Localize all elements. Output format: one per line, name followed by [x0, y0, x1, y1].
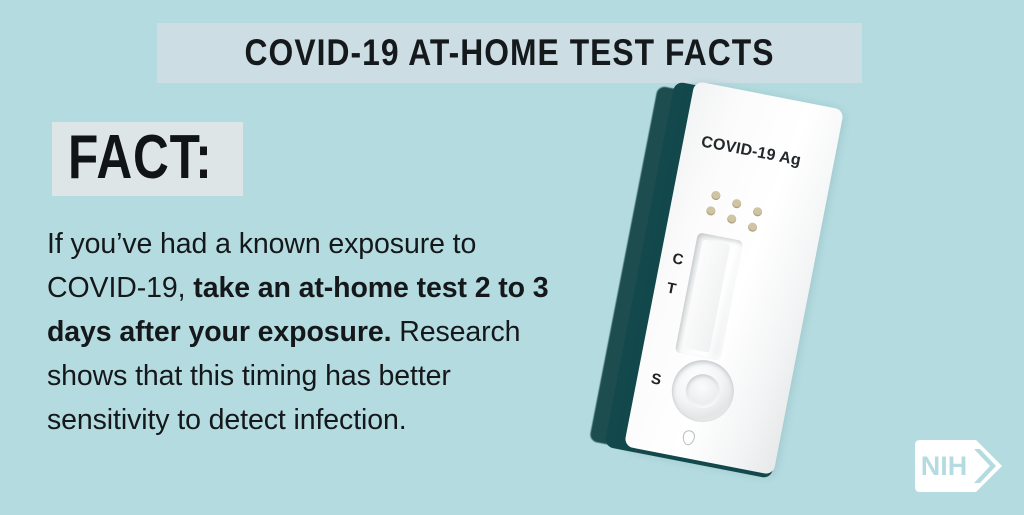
fact-label: FACT: — [52, 118, 205, 196]
vent-dot — [711, 190, 722, 201]
body-copy: If you’ve had a known exposure to COVID-… — [47, 222, 552, 442]
body-copy-lead: If you’ve had a known exposure to — [47, 228, 476, 260]
cassette-product-label: COVID-19 Ag — [700, 133, 803, 170]
vent-dot — [726, 214, 737, 225]
nih-logo: NIH — [910, 437, 1006, 495]
test-line-label: T — [665, 280, 677, 298]
covid-test-cassette: COVID-19 Ag C T S — [600, 70, 930, 500]
control-line-label: C — [671, 250, 685, 269]
nih-logo-plate — [910, 437, 1006, 495]
vent-dot — [731, 198, 742, 209]
vent-dot — [752, 207, 763, 218]
poster-canvas: COVID-19 AT-HOME TEST FACTS FACT: If you… — [0, 0, 1024, 515]
body-copy-lead2: COVID-19, — [47, 272, 193, 304]
cassette-vent-dots — [704, 190, 773, 236]
vent-dot — [747, 222, 758, 233]
droplet-icon — [681, 429, 696, 446]
vent-dot — [706, 206, 717, 217]
sample-well-label: S — [650, 370, 663, 389]
